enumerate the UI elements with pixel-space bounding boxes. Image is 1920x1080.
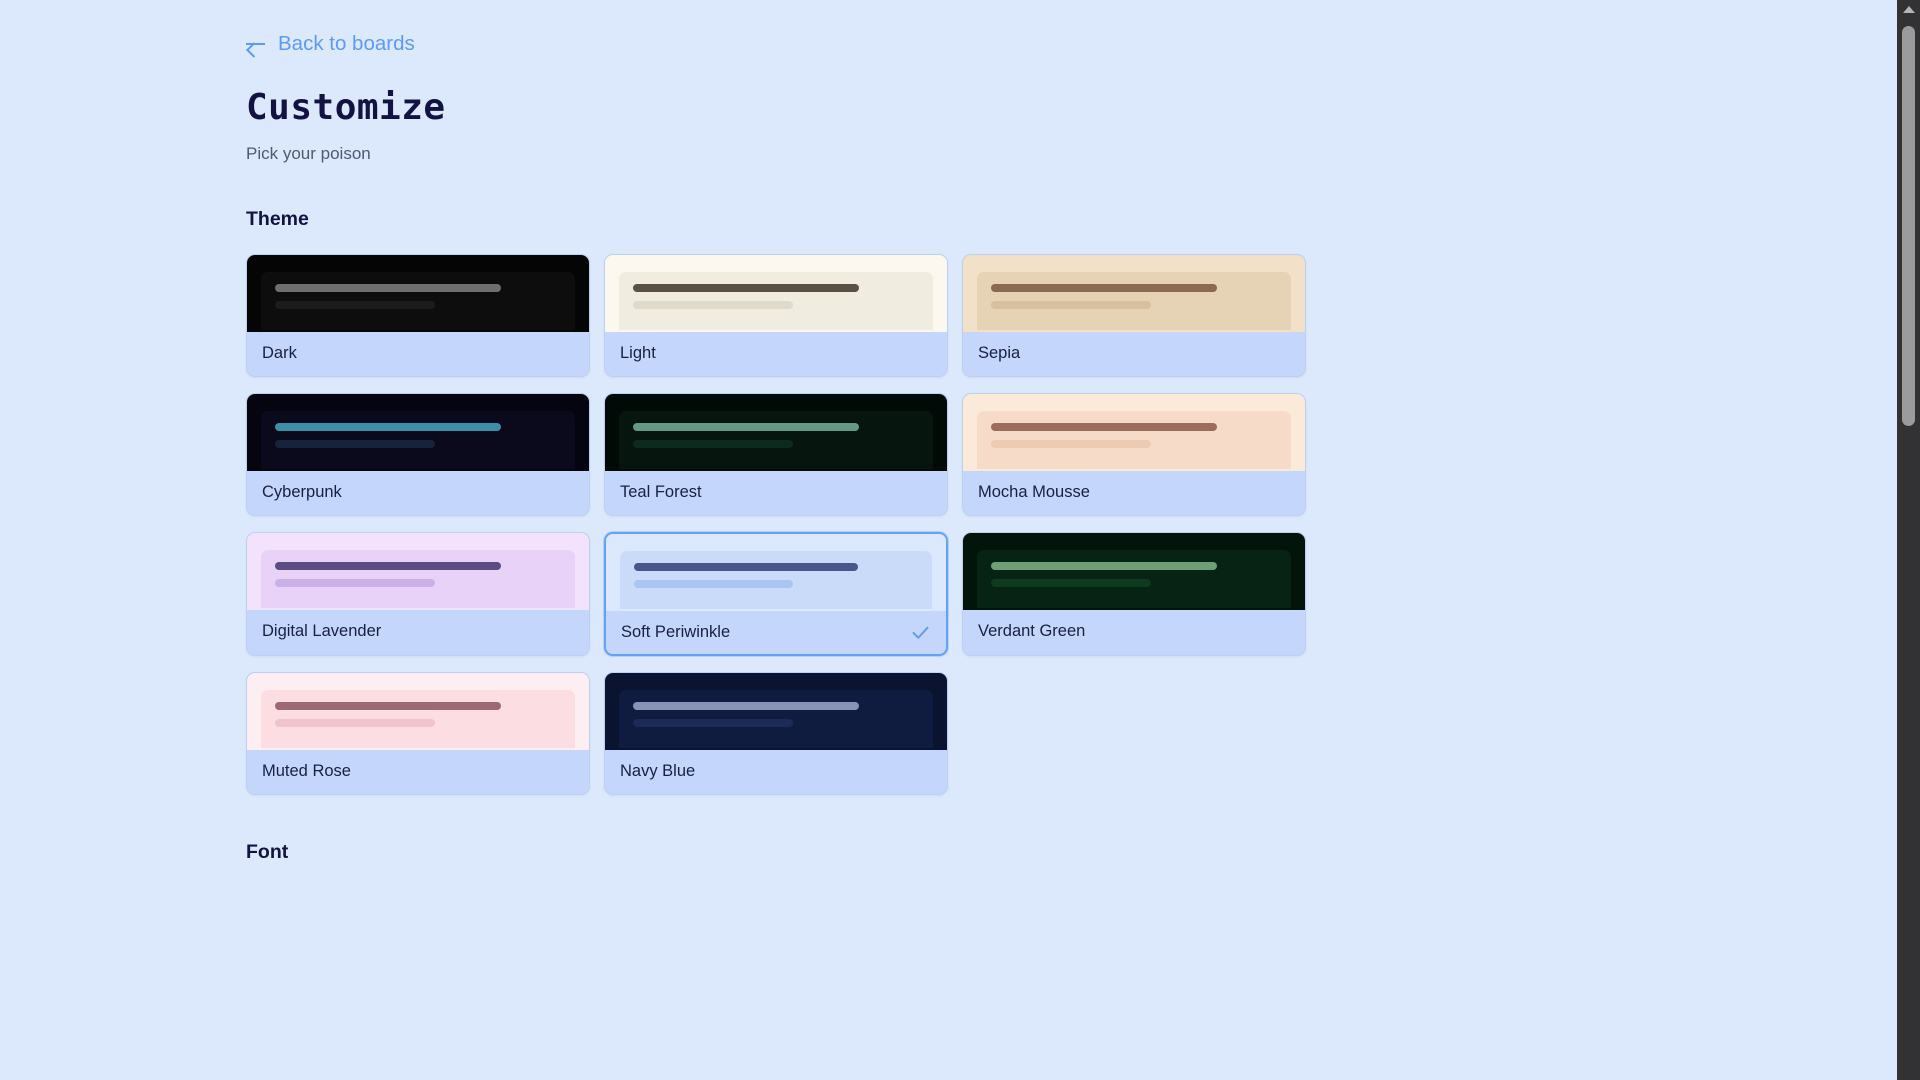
theme-card-label-row: Cyberpunk bbox=[247, 471, 589, 515]
theme-card-light[interactable]: Light bbox=[604, 254, 948, 377]
theme-preview bbox=[247, 673, 589, 750]
theme-preview-panel bbox=[261, 411, 575, 469]
arrow-left-icon bbox=[246, 37, 265, 51]
vertical-scrollbar[interactable] bbox=[1897, 0, 1920, 1080]
theme-preview-panel bbox=[261, 550, 575, 608]
scroll-up-arrow-icon[interactable] bbox=[1897, 0, 1920, 18]
preview-bar-secondary bbox=[991, 440, 1151, 448]
theme-card-label-row: Light bbox=[605, 332, 947, 376]
theme-name: Verdant Green bbox=[978, 623, 1085, 640]
preview-bar-primary bbox=[275, 284, 501, 292]
preview-bar-primary bbox=[991, 423, 1217, 431]
theme-name: Sepia bbox=[978, 345, 1020, 362]
theme-preview bbox=[605, 255, 947, 332]
theme-card-dark[interactable]: Dark bbox=[246, 254, 590, 377]
theme-card-cyberpunk[interactable]: Cyberpunk bbox=[246, 393, 590, 516]
scrollbar-thumb[interactable] bbox=[1902, 26, 1915, 426]
preview-bar-primary bbox=[275, 562, 501, 570]
preview-bar-secondary bbox=[991, 301, 1151, 309]
theme-card-teal-forest[interactable]: Teal Forest bbox=[604, 393, 948, 516]
theme-card-label-row: Teal Forest bbox=[605, 471, 947, 515]
scrollable-content-area: Back to boards Customize Pick your poiso… bbox=[0, 0, 1897, 1080]
theme-card-mocha-mousse[interactable]: Mocha Mousse bbox=[962, 393, 1306, 516]
theme-preview bbox=[605, 673, 947, 750]
preview-bar-secondary bbox=[275, 301, 435, 309]
theme-preview bbox=[247, 394, 589, 471]
theme-preview bbox=[605, 394, 947, 471]
theme-card-label-row: Soft Periwinkle bbox=[606, 611, 946, 654]
theme-name: Light bbox=[620, 345, 656, 362]
theme-preview bbox=[247, 533, 589, 610]
preview-bar-primary bbox=[633, 702, 859, 710]
theme-card-label-row: Verdant Green bbox=[963, 610, 1305, 654]
theme-preview-panel bbox=[977, 411, 1291, 469]
theme-card-label-row: Digital Lavender bbox=[247, 610, 589, 654]
preview-bar-primary bbox=[275, 423, 501, 431]
preview-bar-secondary bbox=[633, 440, 793, 448]
preview-bar-secondary bbox=[633, 301, 793, 309]
theme-section-title: Theme bbox=[246, 208, 1897, 231]
preview-bar-secondary bbox=[275, 719, 435, 727]
theme-name: Dark bbox=[262, 345, 297, 362]
theme-preview bbox=[963, 394, 1305, 471]
preview-bar-secondary bbox=[991, 579, 1151, 587]
theme-option-grid: DarkLightSepiaCyberpunkTeal ForestMocha … bbox=[246, 254, 1306, 795]
preview-bar-primary bbox=[633, 284, 859, 292]
check-icon bbox=[910, 622, 931, 643]
preview-bar-primary bbox=[633, 423, 859, 431]
theme-card-soft-periwinkle[interactable]: Soft Periwinkle bbox=[604, 532, 948, 656]
theme-name: Muted Rose bbox=[262, 763, 351, 780]
theme-card-label-row: Mocha Mousse bbox=[963, 471, 1305, 515]
theme-card-navy-blue[interactable]: Navy Blue bbox=[604, 672, 948, 795]
theme-preview-panel bbox=[977, 550, 1291, 608]
theme-card-label-row: Muted Rose bbox=[247, 750, 589, 794]
theme-name: Teal Forest bbox=[620, 484, 702, 501]
theme-card-muted-rose[interactable]: Muted Rose bbox=[246, 672, 590, 795]
theme-preview-panel bbox=[619, 272, 933, 330]
browser-viewport: Back to boards Customize Pick your poiso… bbox=[0, 0, 1920, 1080]
theme-card-label-row: Sepia bbox=[963, 332, 1305, 376]
page-title: Customize bbox=[246, 88, 1897, 128]
theme-card-verdant-green[interactable]: Verdant Green bbox=[962, 532, 1306, 656]
theme-card-sepia[interactable]: Sepia bbox=[962, 254, 1306, 377]
preview-bar-secondary bbox=[634, 580, 793, 588]
theme-preview-panel bbox=[620, 551, 932, 609]
theme-preview bbox=[247, 255, 589, 332]
theme-preview-panel bbox=[619, 411, 933, 469]
page-content: Back to boards Customize Pick your poiso… bbox=[0, 0, 1897, 864]
theme-preview bbox=[606, 534, 946, 611]
preview-bar-primary bbox=[634, 563, 858, 571]
preview-bar-secondary bbox=[275, 440, 435, 448]
theme-name: Cyberpunk bbox=[262, 484, 342, 501]
theme-preview bbox=[963, 533, 1305, 610]
preview-bar-primary bbox=[991, 284, 1217, 292]
theme-preview-panel bbox=[977, 272, 1291, 330]
back-to-boards-label: Back to boards bbox=[278, 34, 415, 55]
preview-bar-primary bbox=[991, 562, 1217, 570]
theme-card-label-row: Navy Blue bbox=[605, 750, 947, 794]
theme-name: Soft Periwinkle bbox=[621, 624, 730, 641]
preview-bar-secondary bbox=[633, 719, 793, 727]
theme-name: Digital Lavender bbox=[262, 623, 381, 640]
back-to-boards-link[interactable]: Back to boards bbox=[246, 34, 415, 55]
theme-card-label-row: Dark bbox=[247, 332, 589, 376]
preview-bar-primary bbox=[275, 702, 501, 710]
theme-name: Mocha Mousse bbox=[978, 484, 1090, 501]
preview-bar-secondary bbox=[275, 579, 435, 587]
font-section-title: Font bbox=[246, 841, 1897, 864]
theme-name: Navy Blue bbox=[620, 763, 695, 780]
theme-card-digital-lavender[interactable]: Digital Lavender bbox=[246, 532, 590, 656]
theme-preview-panel bbox=[619, 690, 933, 748]
theme-preview bbox=[963, 255, 1305, 332]
theme-preview-panel bbox=[261, 272, 575, 330]
theme-preview-panel bbox=[261, 690, 575, 748]
page-subtitle: Pick your poison bbox=[246, 144, 1897, 164]
